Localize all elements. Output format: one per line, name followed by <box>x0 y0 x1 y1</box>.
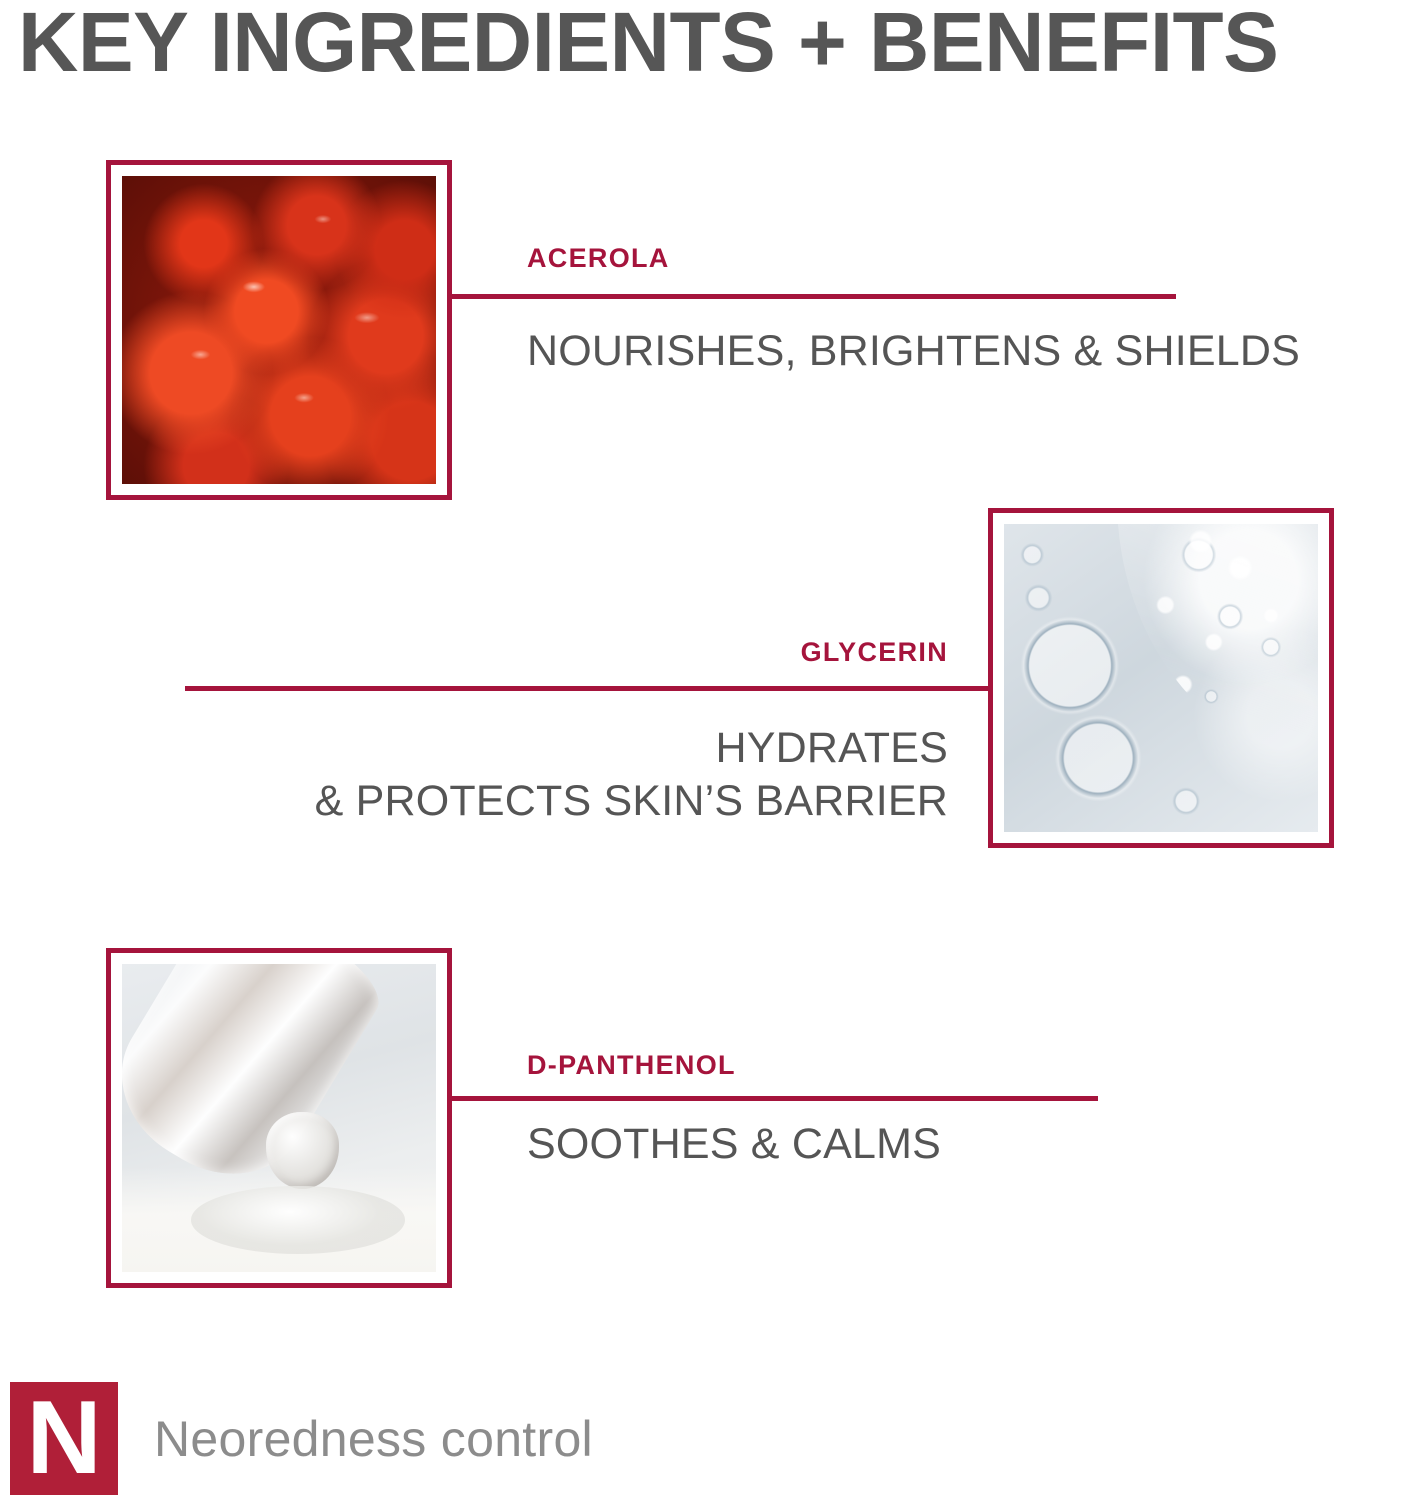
glycerin-connector-rule <box>185 686 993 691</box>
acerola-berries-photo <box>122 176 436 484</box>
brand-logo-mark: N <box>10 1382 118 1495</box>
glycerin-image-frame <box>988 508 1334 848</box>
ingredient-benefit-glycerin-line-2: & PROTECTS SKIN’S BARRIER <box>0 775 948 828</box>
dropper-droplet-photo <box>122 964 436 1272</box>
droplet <box>266 1112 338 1189</box>
panthenol-connector-rule <box>447 1096 1098 1101</box>
brand-footer: N Neoredness control <box>10 1382 593 1495</box>
acerola-image-frame <box>106 160 452 500</box>
ingredient-name-panthenol: D-PANTHENOL <box>527 1050 736 1080</box>
acerola-connector-rule <box>447 294 1176 299</box>
glycerin-bubbles-photo <box>1004 524 1318 832</box>
droplet-puddle <box>191 1186 405 1254</box>
ingredient-name-acerola: ACEROLA <box>527 243 670 273</box>
ingredient-benefit-panthenol-line-1: SOOTHES & CALMS <box>527 1118 941 1171</box>
ingredient-name-glycerin: GLYCERIN <box>0 637 948 667</box>
panthenol-image-frame <box>106 948 452 1288</box>
brand-name: Neoredness control <box>154 1411 593 1467</box>
ingredient-benefit-acerola-line-1: NOURISHES, BRIGHTENS & SHIELDS <box>527 325 1300 378</box>
page-title: KEY INGREDIENTS + BENEFITS <box>18 0 1415 88</box>
ingredient-benefit-glycerin-line-1: HYDRATES <box>0 722 948 775</box>
